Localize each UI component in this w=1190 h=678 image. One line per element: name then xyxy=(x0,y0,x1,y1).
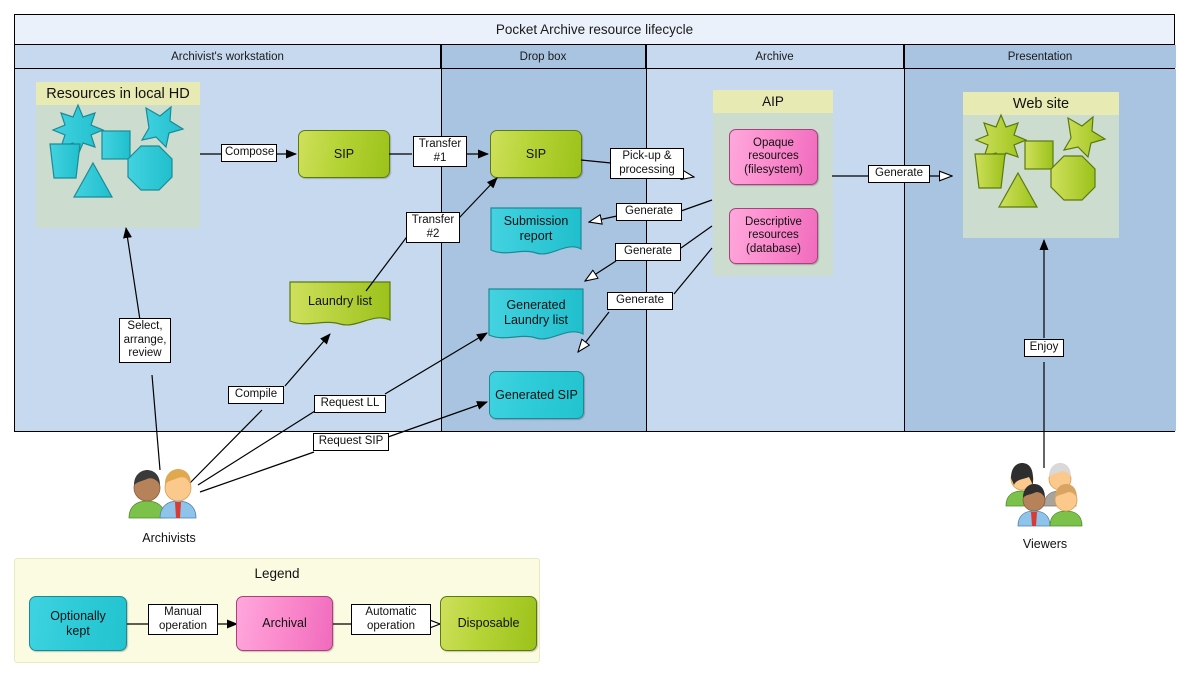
legend-item-disposable: Disposable xyxy=(440,596,537,651)
legend-item-optionally-kept: Optionally kept xyxy=(29,596,127,651)
node-generated-sip[interactable]: Generated SIP xyxy=(489,371,584,419)
label-generate-submission-report[interactable]: Generate xyxy=(616,203,682,221)
node-submission-report[interactable]: Submission report xyxy=(490,207,582,259)
shape-5point-star xyxy=(1064,117,1105,157)
node-generated-laundry-list-label: Generated Laundry list xyxy=(488,288,584,346)
node-sip-workstation[interactable]: SIP xyxy=(298,130,390,178)
node-opaque-resources[interactable]: Opaque resources (filesystem) xyxy=(729,129,818,185)
shape-triangle xyxy=(74,163,112,197)
label-transfer-1[interactable]: Transfer #1 xyxy=(413,136,467,167)
label-generate-sip[interactable]: Generate xyxy=(607,292,673,310)
label-pickup-processing[interactable]: Pick-up & processing xyxy=(610,148,684,179)
lane-header-archivists-workstation: Archivist's workstation xyxy=(15,45,441,68)
legend-item-archival: Archival xyxy=(236,596,333,651)
node-laundry-list[interactable]: Laundry list xyxy=(289,281,391,329)
legend-item-automatic-operation: Automatic operation xyxy=(351,604,431,635)
viewers-avatar-icon xyxy=(1000,458,1090,530)
lane-header-archive: Archive xyxy=(646,45,904,68)
shape-octagon xyxy=(128,146,172,190)
shape-square xyxy=(102,131,130,159)
node-submission-report-label: Submission report xyxy=(490,207,582,259)
container-title-aip: AIP xyxy=(713,90,833,113)
shape-5point-star xyxy=(142,107,183,147)
label-compile[interactable]: Compile xyxy=(228,386,284,404)
label-request-ll[interactable]: Request LL xyxy=(314,395,386,413)
shape-octagon xyxy=(1051,156,1095,200)
lane-header-drop-box: Drop box xyxy=(441,45,646,68)
actor-archivists-label: Archivists xyxy=(120,531,218,545)
actor-viewers-label: Viewers xyxy=(1000,537,1090,551)
legend-panel: Legend Optionally kept Manual operation … xyxy=(14,558,540,663)
lane-header-presentation: Presentation xyxy=(904,45,1176,68)
shape-trapezoid xyxy=(50,144,80,178)
shape-square xyxy=(1025,141,1053,169)
web-site-shapes xyxy=(963,92,1119,238)
page-title: Pocket Archive resource lifecycle xyxy=(15,15,1174,45)
node-descriptive-resources[interactable]: Descriptive resources (database) xyxy=(729,208,818,264)
actor-archivists[interactable]: Archivists xyxy=(120,462,218,545)
label-generate-web-site[interactable]: Generate xyxy=(868,165,930,183)
legend-item-manual-operation: Manual operation xyxy=(148,604,218,635)
label-select-arrange-review[interactable]: Select, arrange, review xyxy=(119,318,171,363)
node-laundry-list-label: Laundry list xyxy=(289,281,391,329)
actor-viewers[interactable]: Viewers xyxy=(1000,458,1090,551)
lane-header-row: Archivist's workstation Drop box Archive… xyxy=(15,45,1174,69)
node-sip-dropbox[interactable]: SIP xyxy=(490,130,582,178)
label-enjoy[interactable]: Enjoy xyxy=(1024,339,1064,357)
label-transfer-2[interactable]: Transfer #2 xyxy=(406,212,460,243)
diagram-canvas: Pocket Archive resource lifecycle Archiv… xyxy=(0,0,1190,678)
archivists-avatar-icon xyxy=(120,462,218,524)
label-generate-laundry-list[interactable]: Generate xyxy=(615,243,681,261)
container-resources-in-local-hd: Resources in local HD xyxy=(36,82,200,228)
label-compose[interactable]: Compose xyxy=(221,144,277,162)
lane-divider-2 xyxy=(646,45,647,431)
shape-triangle xyxy=(999,173,1037,207)
label-request-sip[interactable]: Request SIP xyxy=(313,433,389,451)
container-web-site: Web site xyxy=(963,92,1119,238)
local-hd-shapes xyxy=(36,82,200,228)
node-generated-laundry-list[interactable]: Generated Laundry list xyxy=(488,288,584,346)
shape-trapezoid xyxy=(975,154,1005,188)
lane-divider-3 xyxy=(904,45,905,431)
